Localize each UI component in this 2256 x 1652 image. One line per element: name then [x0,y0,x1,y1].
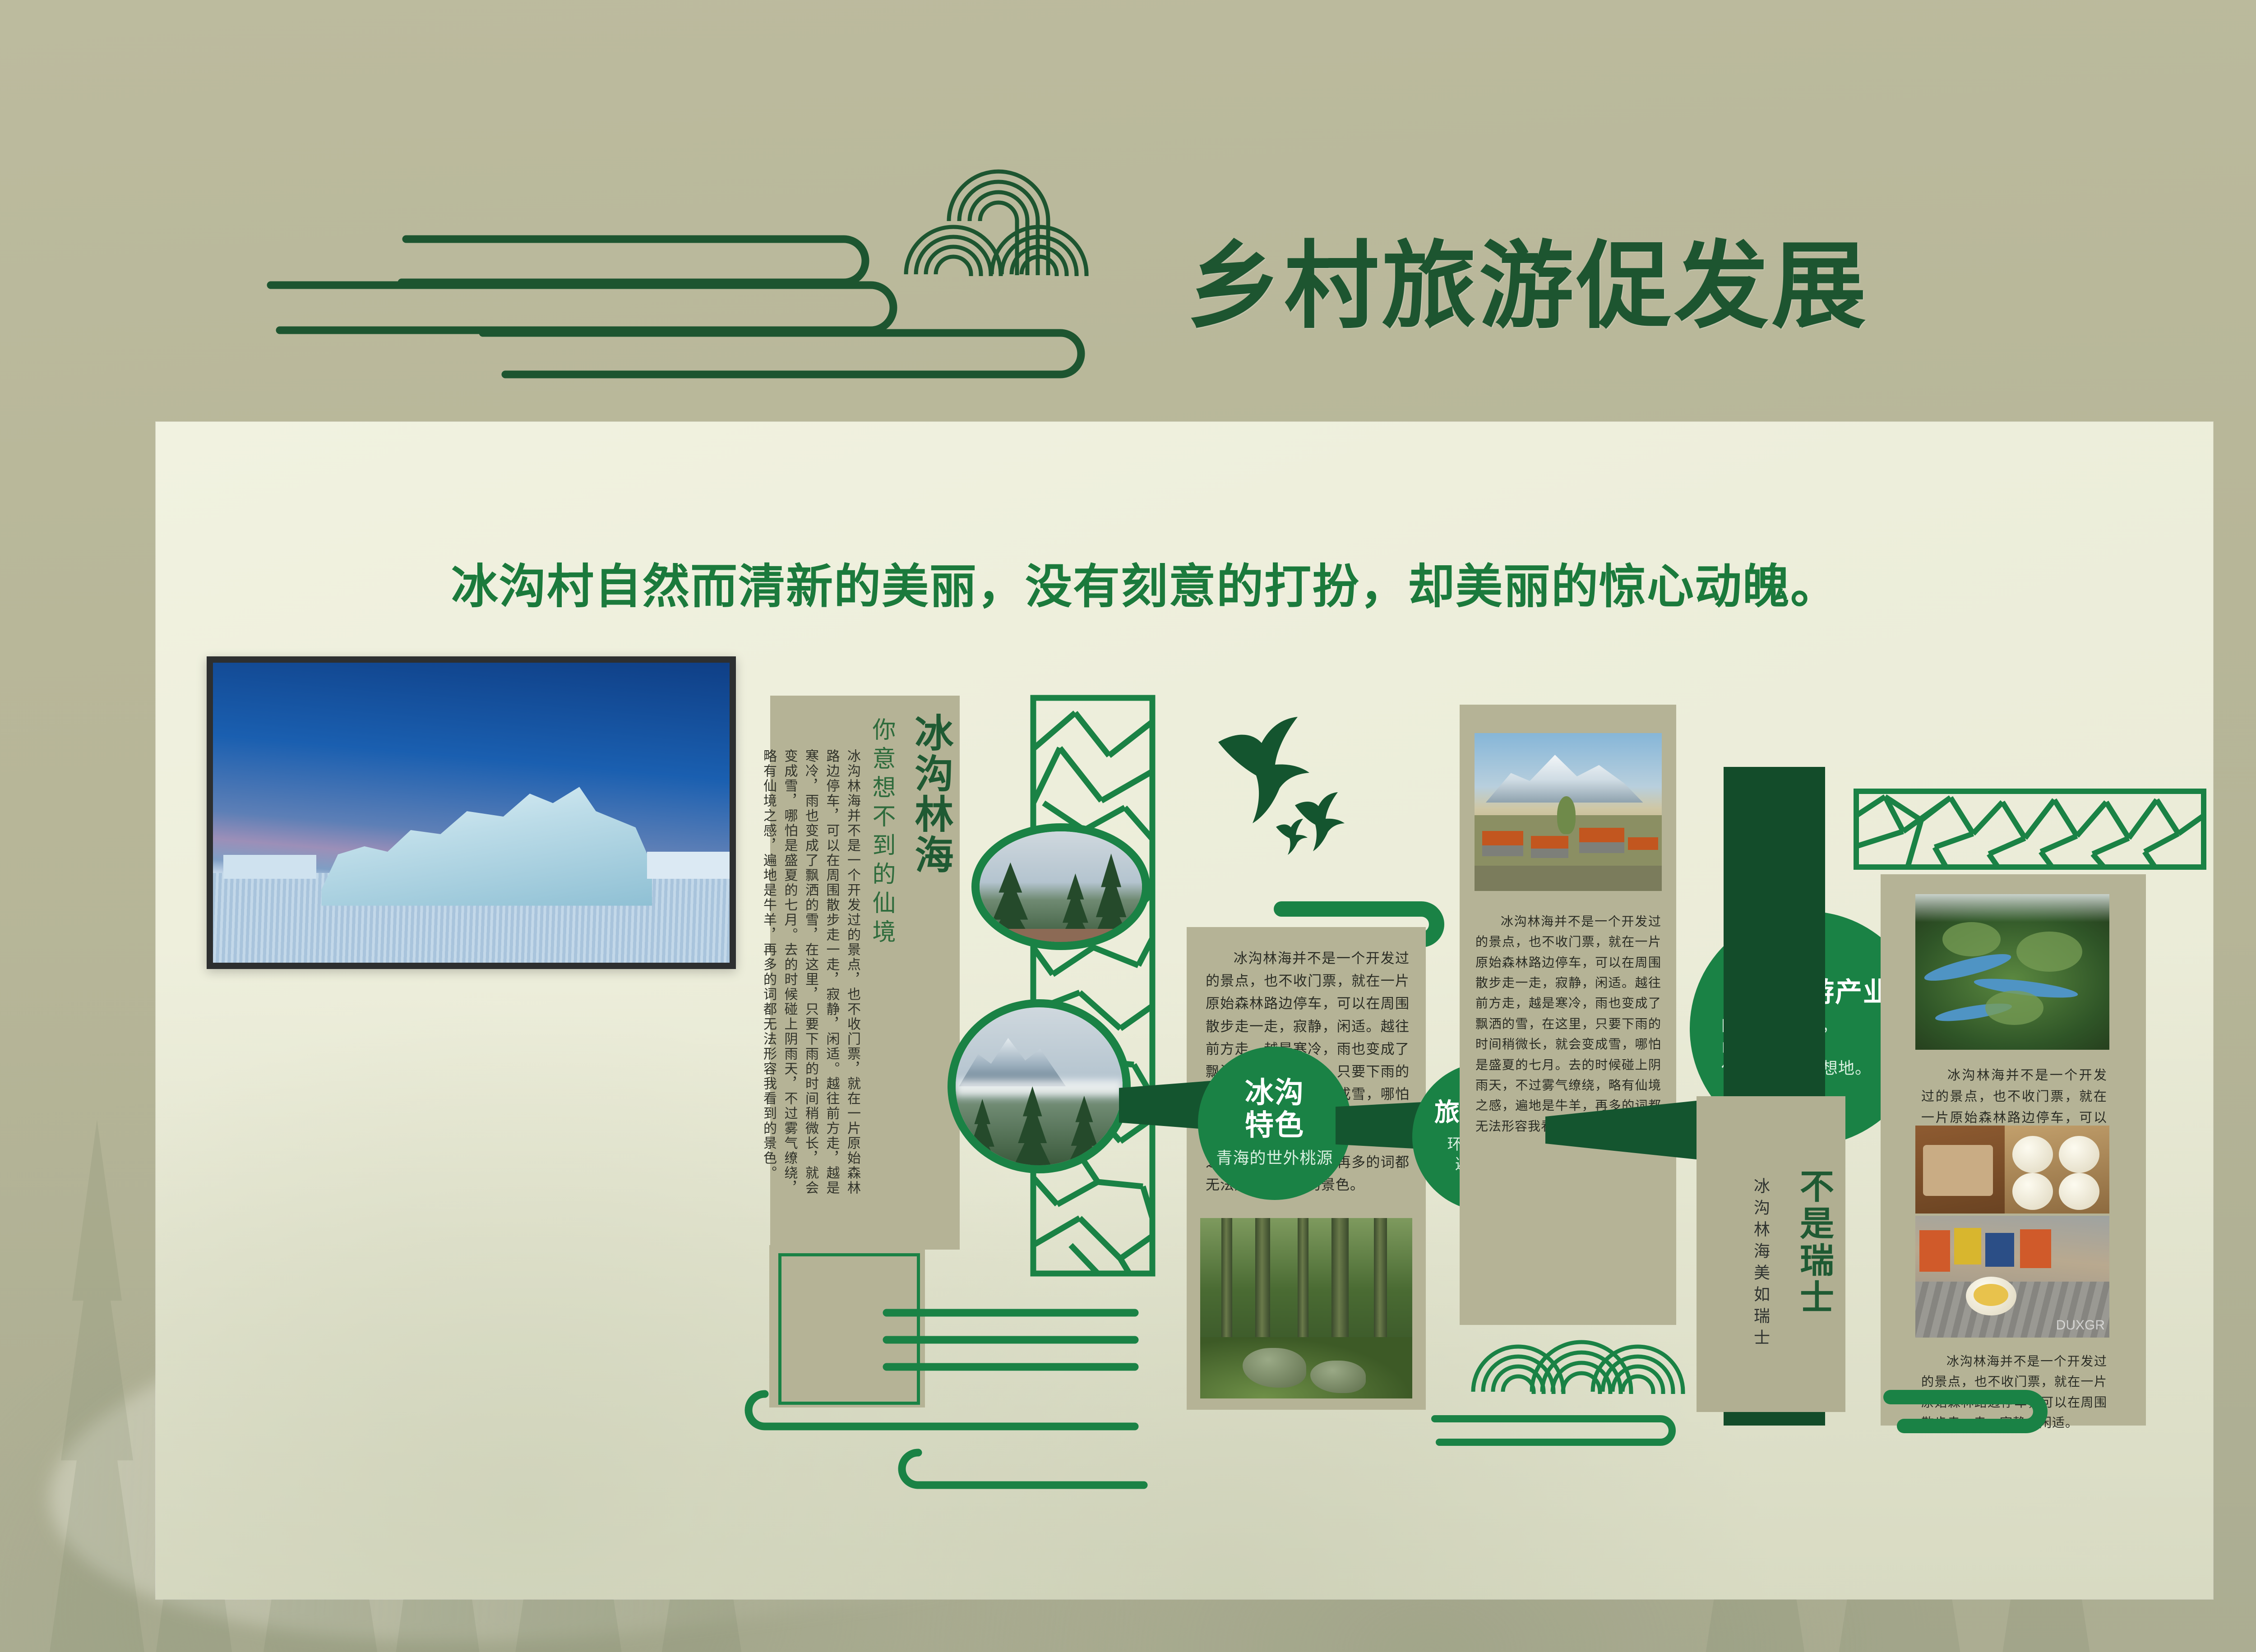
village-roof [1531,836,1568,849]
bottom-cloud-ornament [1435,1245,1751,1525]
moss-ground [1200,1337,1412,1398]
village-roof [1579,842,1624,854]
circle-tese-subtitle: 青海的世外桃源 [1216,1148,1333,1169]
mosaic-lattice-strip [1854,789,2206,870]
market-stall [2020,1229,2051,1268]
market-stall [1985,1233,2015,1267]
tree-trunk [1374,1218,1387,1348]
snow-mountain-photo[interactable] [948,999,1131,1173]
village-roof [1482,831,1523,845]
food-plate [2012,1173,2053,1210]
market-stall [1954,1228,1981,1264]
aerial-plan-photo[interactable] [1915,894,2109,1050]
vegetation-mass [2016,932,2082,972]
vegetation-mass [1942,922,2001,956]
page-subtitle: 冰沟村自然而清新的美丽，没有刻意的打扮，却美丽的惊心动魄。 [451,548,1838,616]
market-stall [1919,1230,1951,1272]
linhai-subheading: 你意想不到的仙境 [865,717,899,952]
iceberg-photo[interactable] [207,656,736,969]
linhai-heading: 冰沟林海 [902,713,959,907]
swiss-heading: 不是瑞士 [1789,1168,1839,1349]
tree-trunk [1331,1218,1349,1355]
forest-road-photo[interactable] [971,823,1150,950]
bottom-line-decor-left [738,1299,1144,1489]
page-title: 乡村旅游促发展 [1187,239,1869,334]
vegetation-mass [1985,991,2043,1025]
bottom-cloud-bar-right [1863,1387,2053,1441]
swiss-subheading: 冰沟林海美如瑞士 [1748,1177,1772,1371]
food-photo[interactable] [1915,1126,2109,1214]
circle-tese-title-line1: 冰沟 [1245,1077,1304,1110]
flying-swallows-icon [1209,715,1358,850]
food-plate [2059,1173,2099,1210]
food-plate [2012,1136,2053,1173]
circle-bingou-tese[interactable]: 冰沟 特色 青海的世外桃源 [1198,1047,1351,1200]
tree-trunk [1298,1218,1308,1344]
circle-tese-title-line2: 特色 [1245,1110,1304,1142]
mossy-forest-photo[interactable] [1200,1218,1412,1398]
village-photo[interactable] [1475,733,1662,891]
tree-trunk [1221,1218,1232,1352]
village-roof [1628,837,1658,850]
image-watermark: DUXGR [2056,1318,2105,1333]
village-roof [1531,849,1568,858]
mosaic-lattice-tall [1030,695,1156,1277]
header-cloud-ornament [253,171,1182,365]
village-roof [1579,828,1624,842]
linhai-body-text: 冰沟林海并不是一个开发过的景点，也不收门票，就在一片原始森林路边停车，可以在周围… [786,749,863,1209]
village-paragraph-text: 冰沟林海并不是一个开发过的景点，也不收门票，就在一片原始森林路边停车，可以在周围… [1475,911,1661,1136]
street-market-photo[interactable]: DUXGR [1915,1216,2109,1338]
village-roof [1482,845,1523,857]
